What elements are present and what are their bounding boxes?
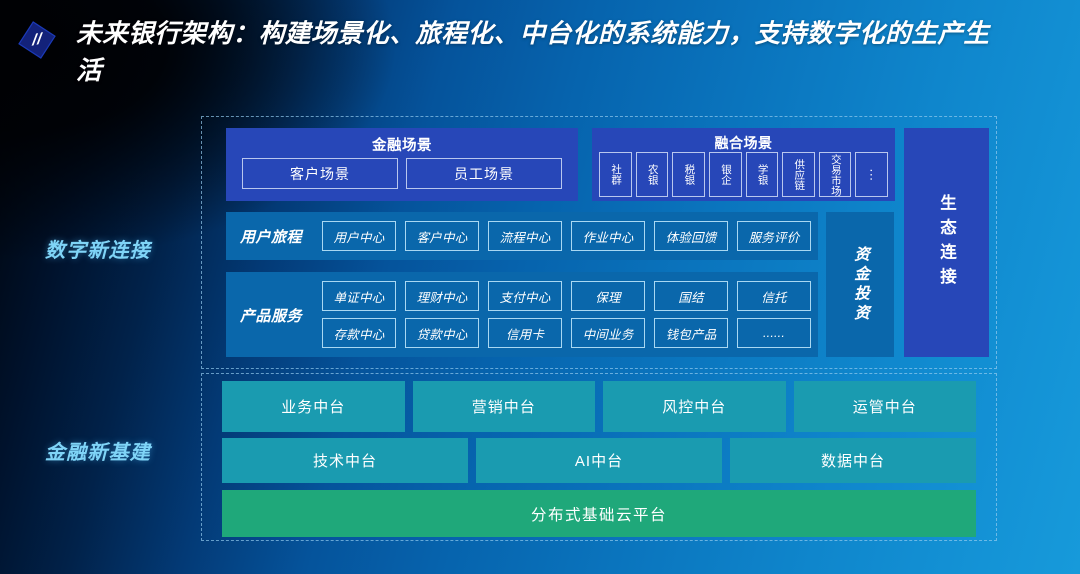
chip-ai-middle-platform[interactable]: AI中台: [476, 438, 722, 483]
chip-business-middle-platform[interactable]: 业务中台: [222, 381, 405, 432]
diamond-logo-icon: [17, 20, 57, 60]
chip-intermediary-business[interactable]: 中间业务: [571, 318, 645, 348]
chip-process-center[interactable]: 流程中心: [488, 221, 562, 251]
financial-scenario-title: 金融场景: [226, 134, 578, 155]
chip-experience-feedback[interactable]: 体验回馈: [654, 221, 728, 251]
middle-platform-row-1: 业务中台 营销中台 风控中台 运管中台: [222, 381, 976, 432]
chip-loan-center[interactable]: 贷款中心: [405, 318, 479, 348]
chip-payment-center[interactable]: 支付中心: [488, 281, 562, 311]
product-service-chip-row-1: 单证中心 理财中心 支付中心 保理 国结 信托: [322, 281, 811, 311]
ecosystem-connection-panel: 生态连接: [904, 128, 989, 357]
chip-service-evaluation[interactable]: 服务评价: [737, 221, 811, 251]
ellipsis-icon: ···: [866, 168, 878, 181]
product-service-chip-row-2: 存款中心 贷款中心 信用卡 中间业务 钱包产品 ......: [322, 318, 811, 348]
fusion-scenario-title: 融合场景: [592, 133, 895, 153]
slide-canvas: 未来银行架构：构建场景化、旅程化、中台化的系统能力，支持数字化的生产生活 数字新…: [0, 0, 1080, 574]
chip-operations-middle-platform[interactable]: 运管中台: [794, 381, 977, 432]
chip-employee-scenario[interactable]: 员工场景: [406, 158, 562, 189]
chip-tax-bank[interactable]: 税银: [672, 152, 705, 197]
user-journey-panel: 用户旅程 用户中心 客户中心 流程中心 作业中心 体验回馈 服务评价: [226, 212, 818, 260]
capital-investment-panel: 资金投资: [826, 212, 894, 357]
chip-credit-card[interactable]: 信用卡: [488, 318, 562, 348]
product-service-panel: 产品服务 单证中心 理财中心 支付中心 保理 国结 信托 存款中心 贷款中心 信…: [226, 272, 818, 357]
chip-tech-middle-platform[interactable]: 技术中台: [222, 438, 468, 483]
chip-community[interactable]: 社群: [599, 152, 632, 197]
chip-trading-market[interactable]: 交易市场: [819, 152, 852, 197]
distributed-cloud-platform-bar[interactable]: 分布式基础云平台: [222, 490, 976, 537]
slide-header: 未来银行架构：构建场景化、旅程化、中台化的系统能力，支持数字化的生产生活: [0, 0, 1080, 108]
chip-factoring[interactable]: 保理: [571, 281, 645, 311]
capital-investment-label: 资金投资: [849, 246, 871, 324]
chip-customer-center[interactable]: 客户中心: [405, 221, 479, 251]
user-journey-chip-row: 用户中心 客户中心 流程中心 作业中心 体验回馈 服务评价: [322, 221, 811, 251]
fusion-scenario-chip-row: 社群 农银 税银 银企 学银 供应链 交易市场 ···: [599, 152, 888, 197]
fusion-scenario-panel: 融合场景 社群 农银 税银 银企 学银 供应链 交易市场 ···: [592, 128, 895, 201]
middle-platform-row-2: 技术中台 AI中台 数据中台: [222, 438, 976, 483]
chip-risk-middle-platform[interactable]: 风控中台: [603, 381, 786, 432]
chip-supply-chain[interactable]: 供应链: [782, 152, 815, 197]
chip-more-ellipsis[interactable]: ···: [855, 152, 888, 197]
chip-operation-center[interactable]: 作业中心: [571, 221, 645, 251]
chip-deposit-center[interactable]: 存款中心: [322, 318, 396, 348]
chip-bank-enterprise[interactable]: 银企: [709, 152, 742, 197]
chip-user-center[interactable]: 用户中心: [322, 221, 396, 251]
chip-marketing-middle-platform[interactable]: 营销中台: [413, 381, 596, 432]
chip-school-bank[interactable]: 学银: [746, 152, 779, 197]
financial-scenario-panel: 金融场景 客户场景 员工场景: [226, 128, 578, 201]
product-service-label: 产品服务: [240, 305, 302, 326]
chip-data-middle-platform[interactable]: 数据中台: [730, 438, 976, 483]
chip-wealth-center[interactable]: 理财中心: [405, 281, 479, 311]
chip-customer-scenario[interactable]: 客户场景: [242, 158, 398, 189]
side-label-financial-infrastructure: 金融新基建: [45, 436, 151, 465]
page-title: 未来银行架构：构建场景化、旅程化、中台化的系统能力，支持数字化的生产生活: [76, 16, 1006, 90]
chip-more-ellipsis-product[interactable]: ......: [737, 318, 811, 348]
chip-wallet-product[interactable]: 钱包产品: [654, 318, 728, 348]
chip-intl-settlement[interactable]: 国结: [654, 281, 728, 311]
user-journey-label: 用户旅程: [240, 226, 302, 247]
chip-trust[interactable]: 信托: [737, 281, 811, 311]
chip-document-center[interactable]: 单证中心: [322, 281, 396, 311]
side-label-digital-connection: 数字新连接: [45, 234, 151, 263]
ecosystem-connection-label: 生态连接: [935, 194, 959, 292]
chip-agri-bank[interactable]: 农银: [636, 152, 669, 197]
